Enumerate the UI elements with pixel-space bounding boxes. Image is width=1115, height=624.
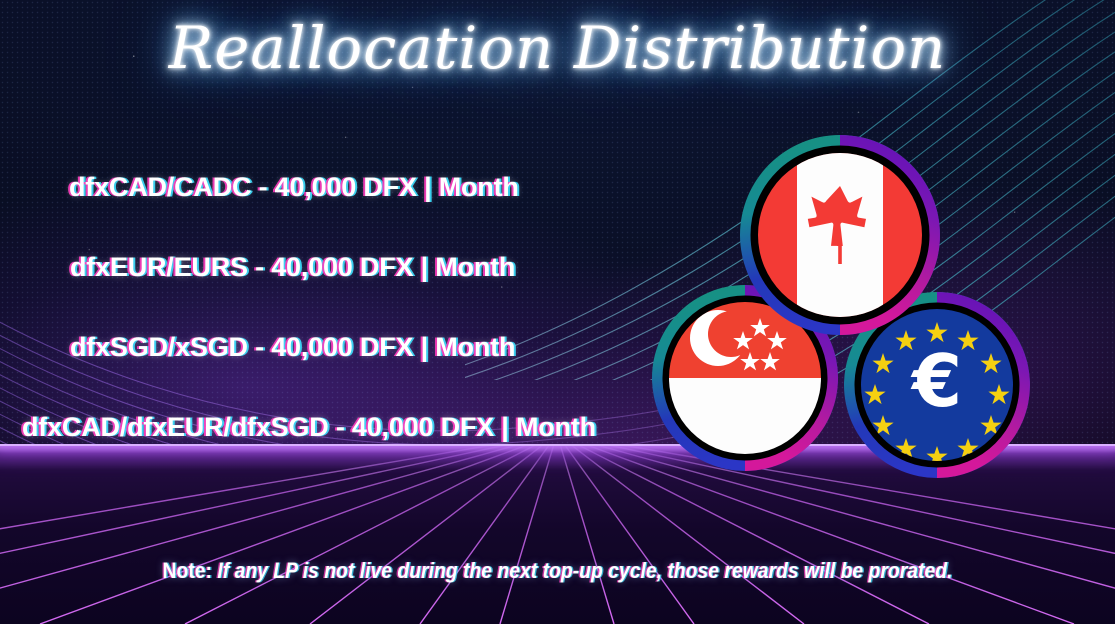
page-title: Reallocation Distribution — [0, 14, 1115, 82]
prorated-note: Note: If any LP is not live during the n… — [67, 558, 1048, 584]
grid-lines — [0, 444, 1115, 624]
horizon-line — [0, 444, 1115, 446]
reward-line-dfxeur-eurs: dfxEUR/EURS - 40,000 DFX | Month — [70, 252, 515, 283]
synthwave-floor-grid — [0, 444, 1115, 624]
reward-line-dfxcad-cadc: dfxCAD/CADC - 40,000 DFX | Month — [69, 172, 519, 203]
reward-line-dfxcad-dfxeur-dfxsgd: dfxCAD/dfxEUR/dfxSGD - 40,000 DFX | Mont… — [22, 412, 596, 443]
note-label: Note: — [163, 558, 218, 583]
note-body: If any LP is not live during the next to… — [217, 558, 952, 583]
horizon-glow — [0, 444, 1115, 470]
reward-line-dfxsgd-xsgd: dfxSGD/xSGD - 40,000 DFX | Month — [70, 332, 515, 363]
reallocation-distribution-banner: Reallocation Distribution dfxCAD/CADC - … — [0, 0, 1115, 624]
